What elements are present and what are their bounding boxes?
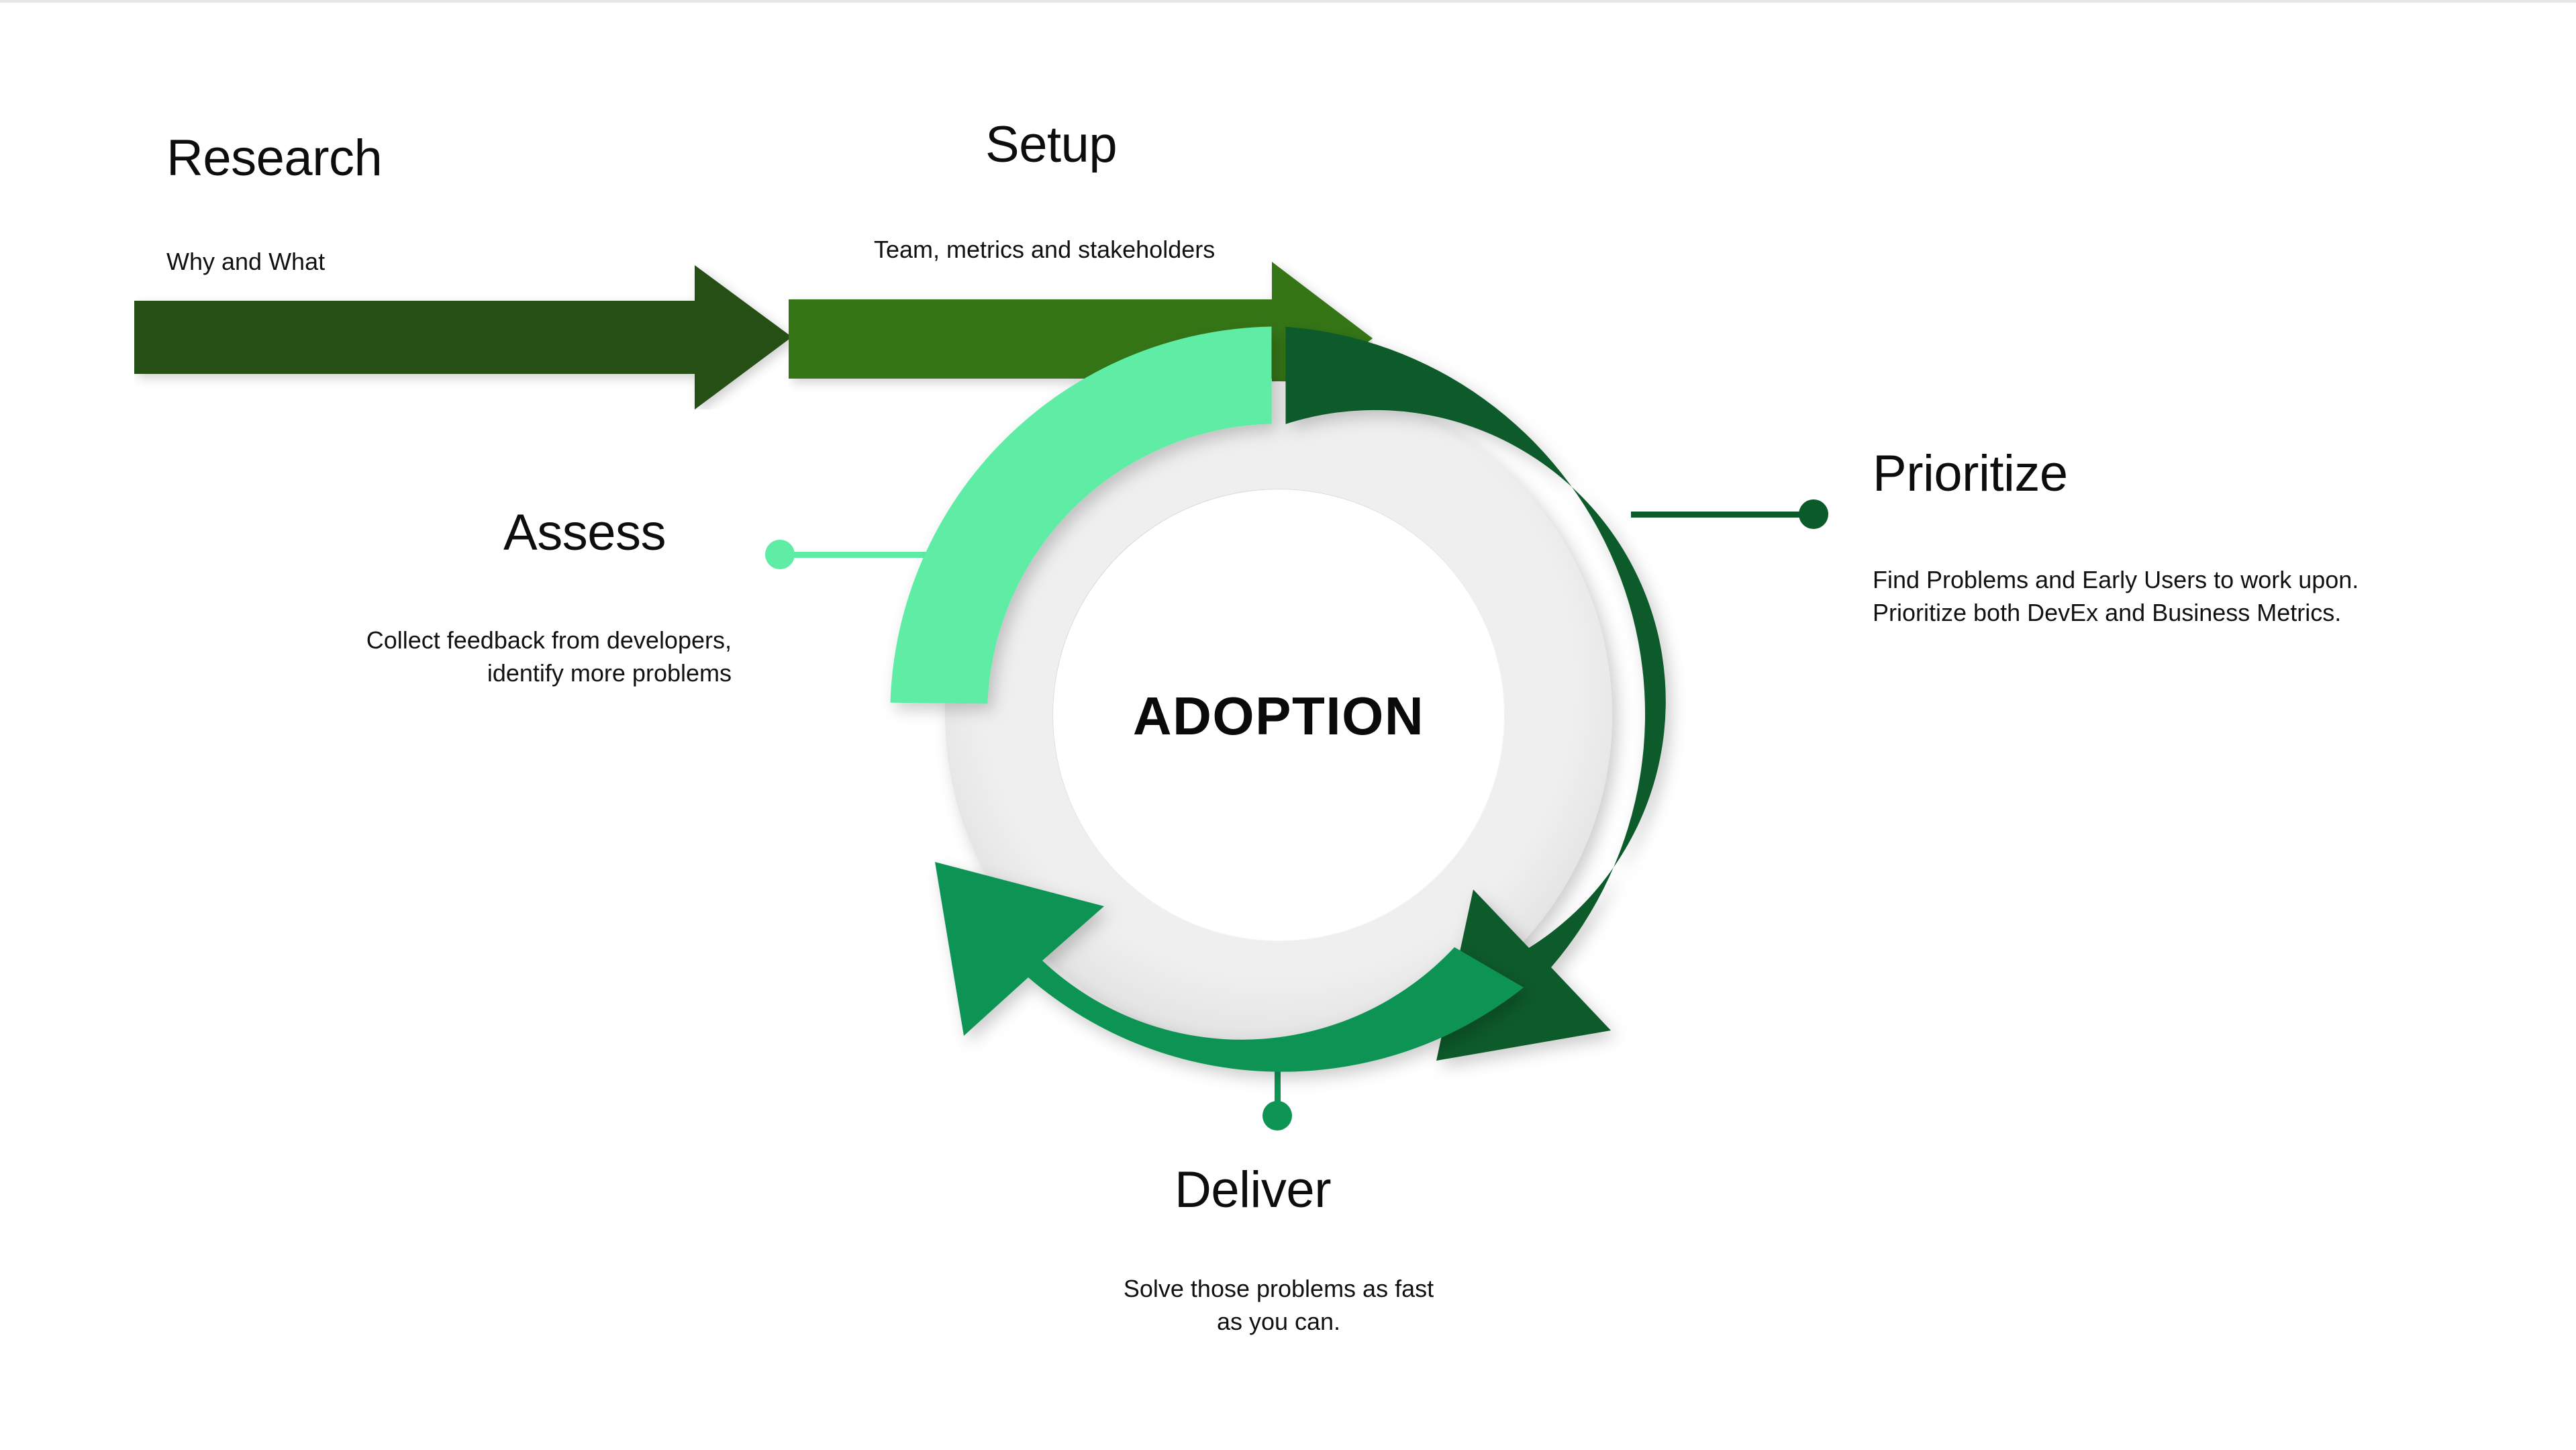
assess-description-line-1: Collect feedback from developers, (289, 624, 732, 657)
deliver-description-line-1: Solve those problems as fast (1020, 1273, 1537, 1306)
research-description: Why and What (166, 246, 325, 279)
assess-description-line-2: identify more problems (289, 657, 732, 690)
research-arrow (134, 265, 792, 409)
top-divider (0, 0, 2576, 3)
setup-description: Team, metrics and stakeholders (874, 234, 1215, 267)
diagram-canvas: Research Why and What Setup Team, metric… (0, 0, 2576, 1450)
setup-title: Setup (985, 119, 1117, 171)
ring-inner-disc (1053, 489, 1504, 940)
deliver-title: Deliver (1175, 1165, 1331, 1216)
deliver-description: Solve those problems as fast as you can. (1020, 1273, 1537, 1338)
prioritize-connector-dot (1799, 499, 1828, 529)
research-title: Research (166, 133, 382, 184)
prioritize-description: Find Problems and Early Users to work up… (1873, 564, 2410, 629)
prioritize-title: Prioritize (1873, 448, 2068, 499)
assess-description: Collect feedback from developers, identi… (289, 624, 732, 689)
assess-connector-dot (765, 540, 795, 569)
assess-title: Assess (503, 507, 666, 559)
deliver-description-line-2: as you can. (1020, 1306, 1537, 1339)
adoption-cycle-ring (832, 269, 1725, 1161)
